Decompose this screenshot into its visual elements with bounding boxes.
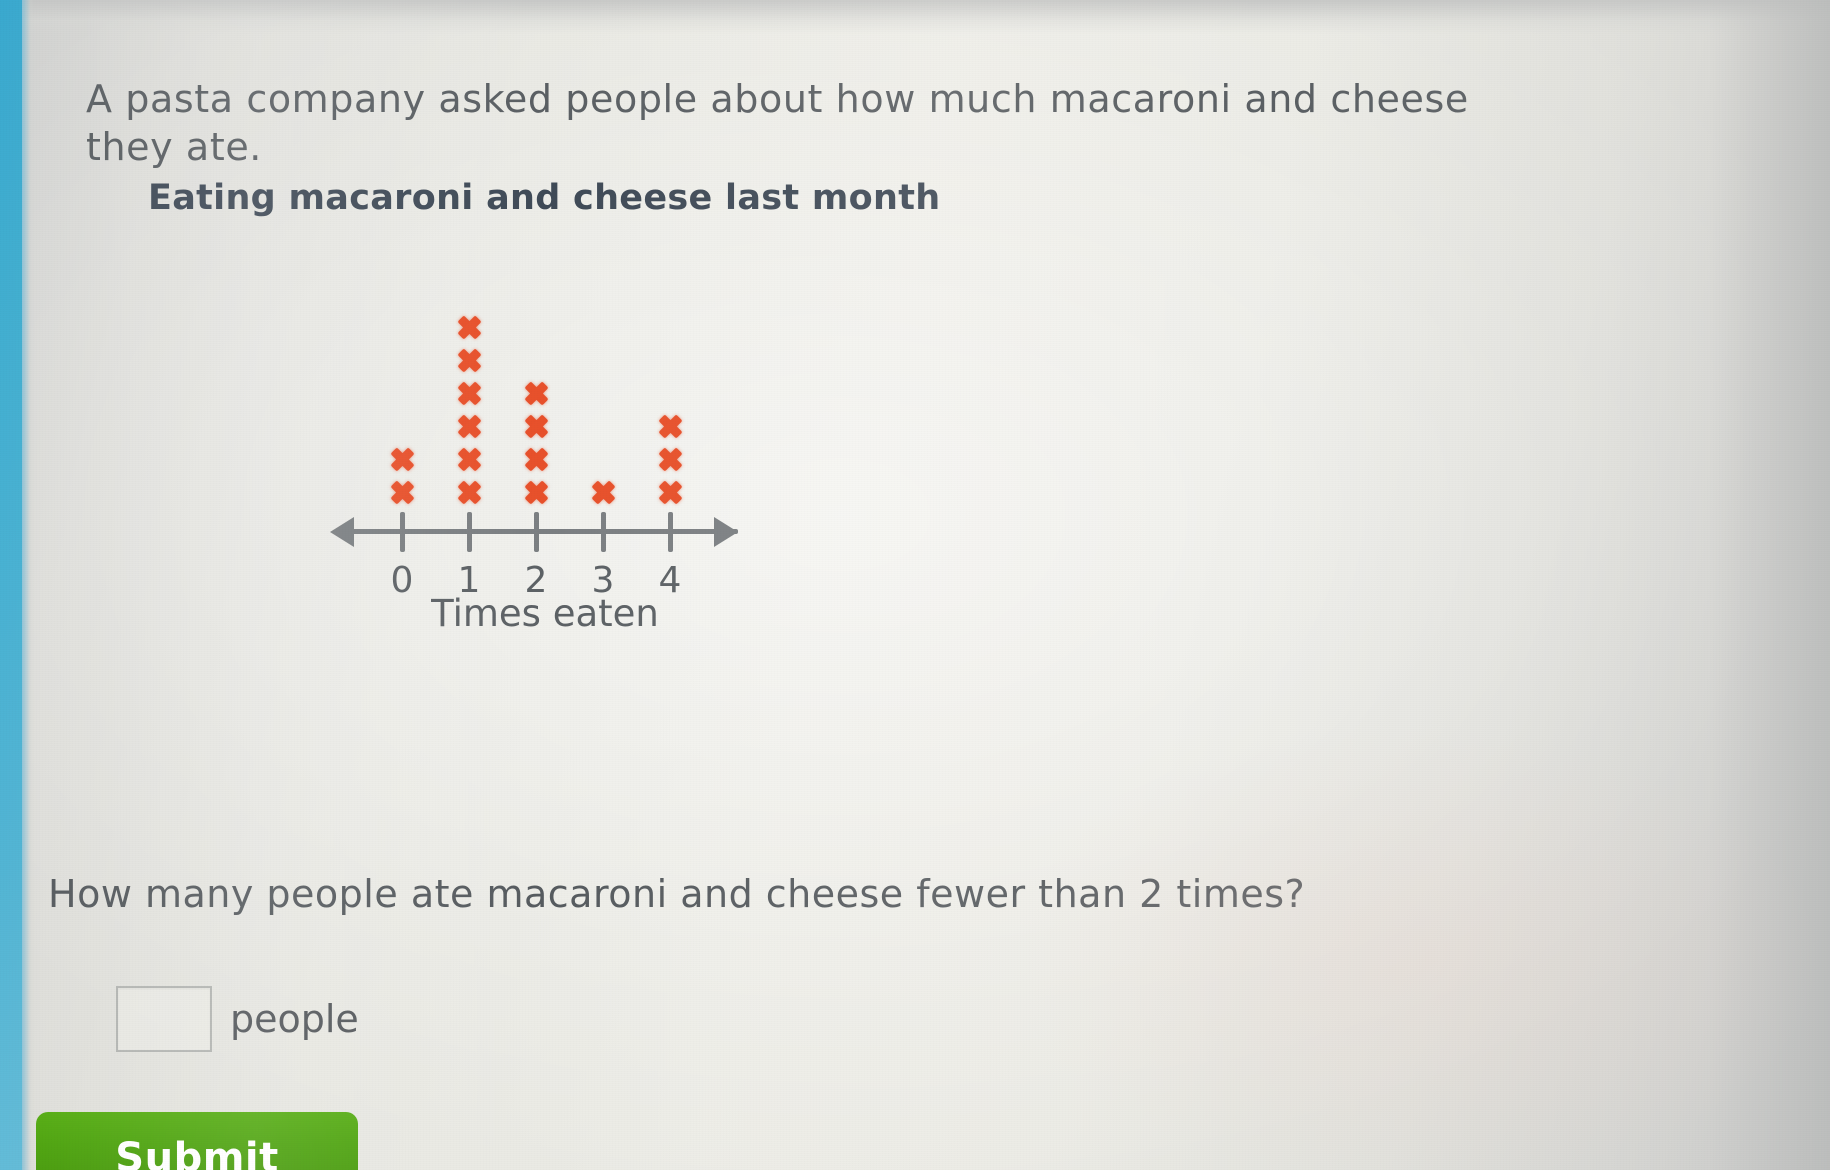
x-marker-icon — [389, 479, 415, 505]
x-marker-icon — [456, 446, 482, 472]
answer-input[interactable] — [116, 986, 212, 1052]
x-marker-icon — [523, 446, 549, 472]
dot-plot-markers-area — [330, 262, 760, 512]
axis-arrow-right-icon — [714, 517, 738, 547]
question-text: How many people ate macaroni and cheese … — [48, 872, 1498, 916]
axis-arrow-left-icon — [330, 517, 354, 547]
worksheet-content: A pasta company asked people about how m… — [0, 0, 1830, 1170]
dot-column-4 — [653, 413, 687, 512]
x-marker-icon — [456, 380, 482, 406]
answer-unit-label: people — [230, 997, 359, 1041]
axis-caption: Times eaten — [330, 592, 760, 635]
screen-top-band — [0, 0, 1830, 34]
dot-column-0 — [385, 446, 419, 512]
x-marker-icon — [456, 479, 482, 505]
x-marker-icon — [523, 380, 549, 406]
x-marker-icon — [456, 413, 482, 439]
x-marker-icon — [590, 479, 616, 505]
x-marker-icon — [389, 446, 415, 472]
axis-tick-0 — [400, 512, 405, 552]
axis-tick-2 — [534, 512, 539, 552]
dot-plot-axis: 01234 — [330, 512, 760, 552]
x-marker-icon — [657, 413, 683, 439]
photographed-screen: A pasta company asked people about how m… — [0, 0, 1830, 1170]
dot-column-2 — [519, 380, 553, 512]
x-marker-icon — [523, 413, 549, 439]
x-marker-icon — [657, 479, 683, 505]
submit-button[interactable]: Submit — [36, 1112, 358, 1170]
x-marker-icon — [657, 446, 683, 472]
axis-tick-1 — [467, 512, 472, 552]
x-marker-icon — [523, 479, 549, 505]
right-gutter — [1710, 0, 1830, 1170]
dot-plot: 01234 Times eaten — [330, 262, 760, 652]
dot-column-1 — [452, 314, 486, 512]
question-prompt: A pasta company asked people about how m… — [86, 76, 1506, 171]
dot-column-3 — [586, 479, 620, 512]
answer-row: people — [116, 986, 359, 1052]
left-edge-blur — [22, 0, 34, 1170]
chart-title: Eating macaroni and cheese last month — [148, 178, 940, 218]
x-marker-icon — [456, 314, 482, 340]
x-marker-icon — [456, 347, 482, 373]
axis-tick-4 — [668, 512, 673, 552]
left-edge-blue-strip — [0, 0, 22, 1170]
axis-tick-3 — [601, 512, 606, 552]
